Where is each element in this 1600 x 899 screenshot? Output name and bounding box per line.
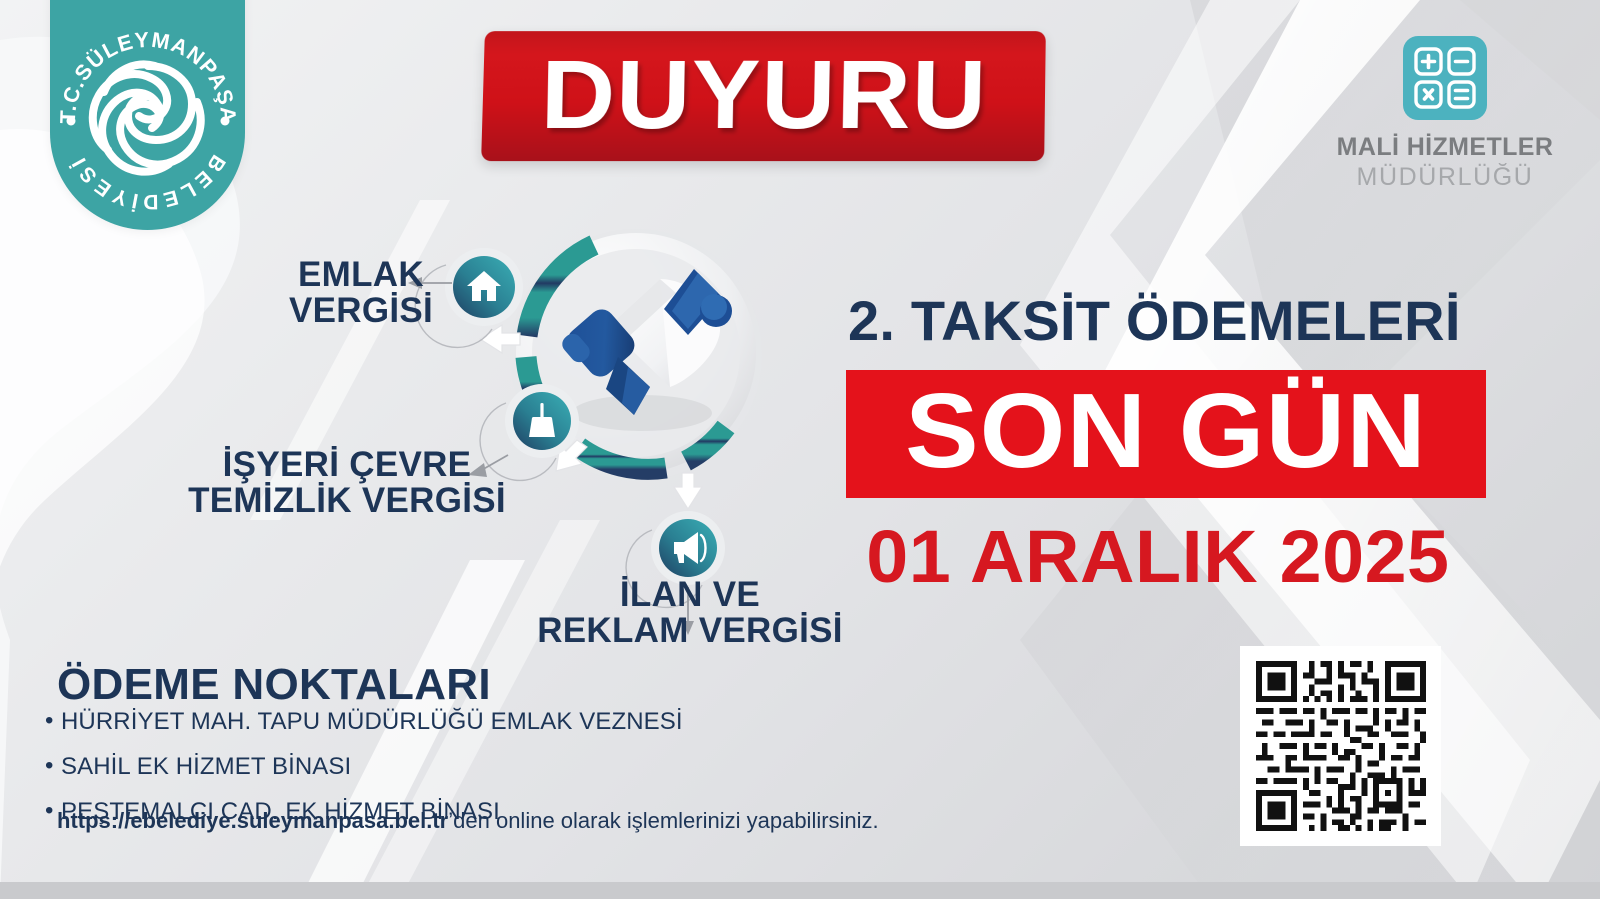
ebelediye-url[interactable]: https://ebelediye.suleymanpasa.bel.tr (57, 808, 448, 833)
deadline-date: 01 ARALIK 2025 (866, 514, 1449, 599)
calculator-icon (1403, 36, 1487, 120)
bottom-band (0, 882, 1600, 899)
installment-heading: 2. TAKSİT ÖDEMELERİ (848, 288, 1461, 353)
label-ilan-line2: REKLAM VERGİSİ (530, 613, 850, 649)
suleymanpasa-logo-icon: T.C.SÜLEYMANPAŞA BELEDİYESİ (50, 0, 245, 230)
duyuru-banner-label: DUYURU (465, 31, 1063, 161)
department-title: MALİ HİZMETLER (1300, 133, 1590, 162)
label-temizlik-vergisi: İŞYERİ ÇEVRE TEMİZLİK VERGİSİ (182, 447, 512, 519)
list-item: SAHİL EK HİZMET BİNASI (45, 753, 765, 781)
payment-points-title: ÖDEME NOKTALARI (57, 660, 491, 710)
announcement-poster: T.C.SÜLEYMANPAŞA BELEDİYESİ DUYURU (0, 0, 1600, 899)
qr-code (1256, 661, 1426, 831)
online-payment-suffix: ’den online olarak işlemlerinizi yapabil… (448, 808, 878, 833)
label-ilan-line1: İLAN VE (530, 577, 850, 613)
label-temizlik-line2: TEMİZLİK VERGİSİ (182, 483, 512, 519)
label-temizlik-line1: İŞYERİ ÇEVRE (182, 447, 512, 483)
municipality-logo-badge: T.C.SÜLEYMANPAŞA BELEDİYESİ (50, 0, 245, 230)
department-block: MALİ HİZMETLER MÜDÜRLÜĞÜ (1300, 36, 1590, 192)
deadline-label: SON GÜN (833, 370, 1499, 498)
qr-code-card[interactable] (1240, 646, 1441, 846)
duyuru-banner: DUYURU (483, 31, 1045, 161)
online-payment-note: https://ebelediye.suleymanpasa.bel.tr’de… (57, 808, 957, 834)
label-ilan-reklam-vergisi: İLAN VE REKLAM VERGİSİ (530, 577, 850, 649)
department-subtitle: MÜDÜRLÜĞÜ (1300, 163, 1590, 192)
deadline-banner: SON GÜN (846, 370, 1486, 498)
list-item: HÜRRİYET MAH. TAPU MÜDÜRLÜĞÜ EMLAK VEZNE… (45, 708, 765, 736)
label-emlak-line1: EMLAK (261, 257, 461, 293)
label-emlak-vergisi: EMLAK VERGİSİ (261, 257, 461, 329)
label-emlak-line2: VERGİSİ (261, 293, 461, 329)
